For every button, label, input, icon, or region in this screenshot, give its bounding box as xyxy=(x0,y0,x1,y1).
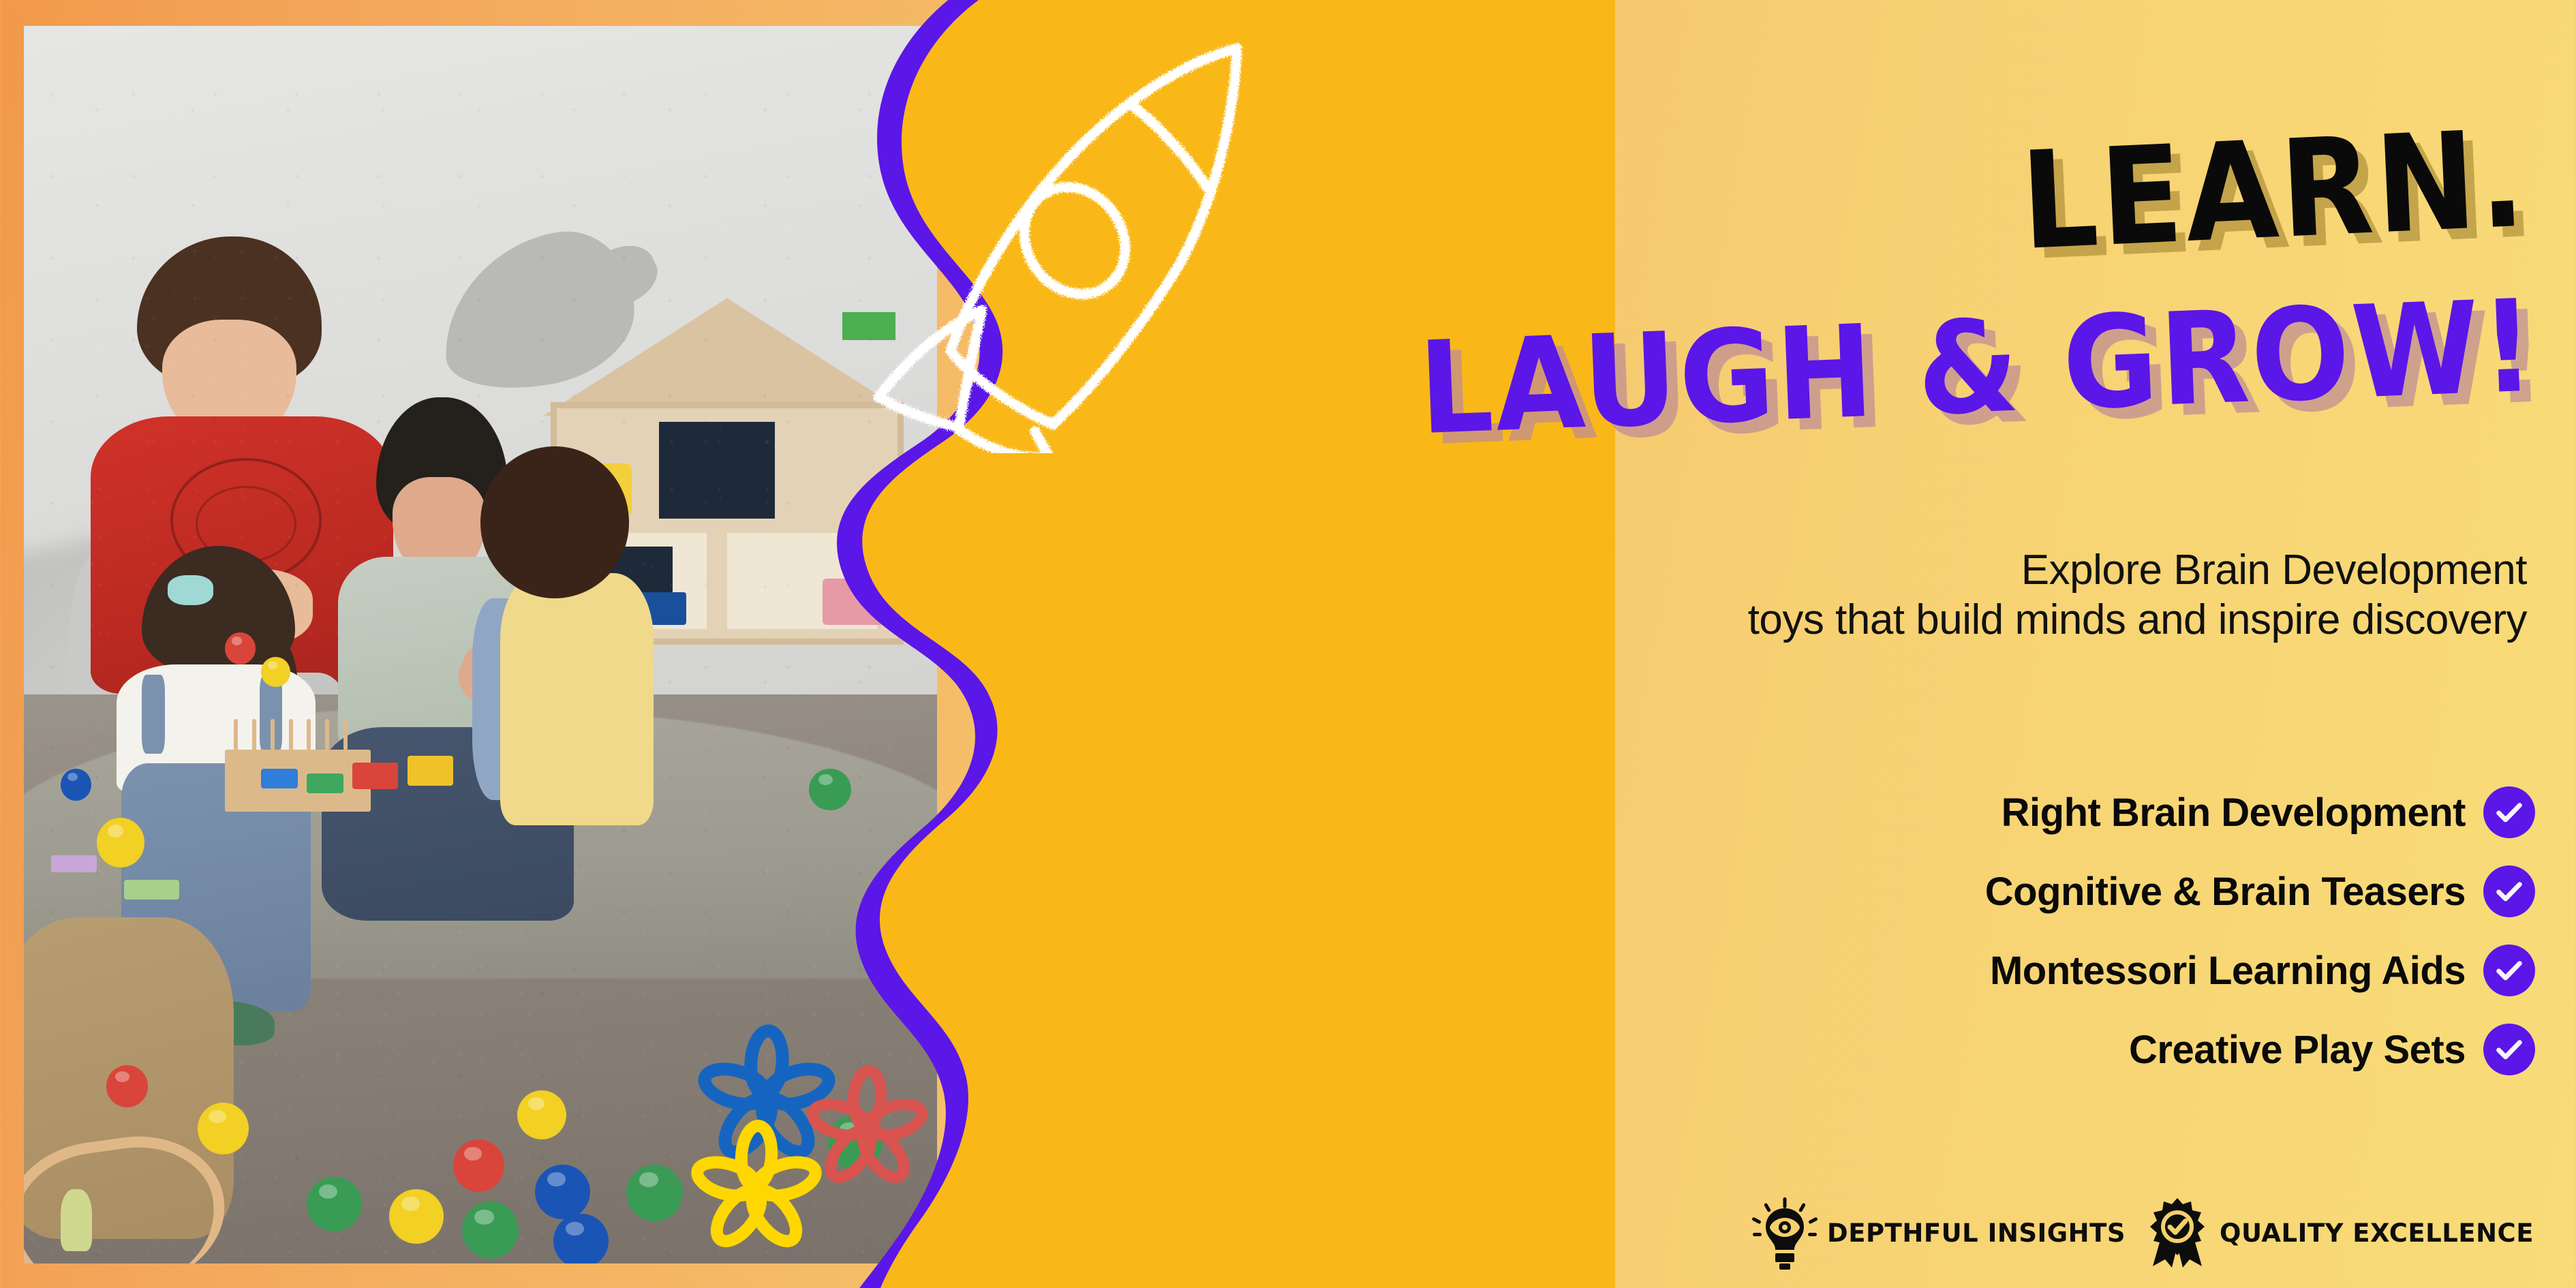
ball-yellow xyxy=(517,1090,566,1140)
girl-strap-left xyxy=(142,675,165,754)
ball-blue xyxy=(61,769,92,801)
feature-list: Right Brain Development Cognitive & Brai… xyxy=(1717,782,2535,1099)
subtitle-line-1: Explore Brain Development xyxy=(1748,545,2527,595)
feature-item-cognitive-brain-teasers[interactable]: Cognitive & Brain Teasers xyxy=(1717,861,2535,921)
award-ribbon-icon xyxy=(2145,1195,2210,1270)
headline-line-1: LEARN. xyxy=(2019,112,2530,270)
ball-green xyxy=(462,1201,519,1259)
peg xyxy=(252,719,256,750)
ball-yellow xyxy=(261,657,290,687)
ball-red xyxy=(225,632,256,664)
check-icon xyxy=(2483,786,2535,838)
ball-yellow xyxy=(198,1103,249,1154)
wooden-block-red xyxy=(352,763,398,790)
wooden-block-purple xyxy=(51,855,97,872)
rocket-window xyxy=(1004,168,1146,313)
feature-item-montessori-learning-aids[interactable]: Montessori Learning Aids xyxy=(1717,940,2535,1000)
girl-hair-clip xyxy=(168,575,214,605)
feature-item-creative-play-sets[interactable]: Creative Play Sets xyxy=(1717,1019,2535,1079)
feature-item-right-brain-development[interactable]: Right Brain Development xyxy=(1717,782,2535,842)
wooden-block-green xyxy=(307,773,343,793)
trust-badge-quality-excellence: QUALITY EXCELLENCE xyxy=(2145,1195,2534,1270)
rocket-fin-left xyxy=(878,310,982,427)
wooden-block-yellow xyxy=(408,756,453,786)
peg xyxy=(234,719,238,750)
lightbulb-eye-icon xyxy=(1752,1195,1818,1270)
trust-badge-label: QUALITY EXCELLENCE xyxy=(2220,1218,2534,1248)
ball-red xyxy=(106,1065,149,1107)
check-icon xyxy=(2483,945,2535,996)
wooden-peg-toy xyxy=(61,1189,93,1251)
headline-line-2: LAUGH & GROW! xyxy=(1417,283,2539,453)
flower-yellow-doodle xyxy=(688,1118,825,1254)
peg xyxy=(289,719,293,750)
ball-yellow xyxy=(97,818,144,868)
trust-badge-depthful-insights: DEPTHFUL INSIGHTS xyxy=(1752,1195,2126,1270)
check-icon xyxy=(2483,865,2535,917)
rocket-chalk-doodle xyxy=(855,24,1271,453)
wooden-block-blue xyxy=(261,769,298,788)
rocket-nose-line xyxy=(1131,104,1207,187)
trust-badge-label: DEPTHFUL INSIGHTS xyxy=(1827,1218,2126,1248)
feature-label: Right Brain Development xyxy=(2002,790,2466,835)
peg xyxy=(307,719,311,750)
trust-badge-row: DEPTHFUL INSIGHTS QUALITY EXCELLENCE xyxy=(1752,1195,2534,1270)
wooden-block-lightgreen xyxy=(124,880,179,900)
feature-label: Creative Play Sets xyxy=(2129,1027,2466,1073)
girl-hair xyxy=(142,546,295,675)
rocket-exhaust xyxy=(1035,431,1072,453)
wooden-peg-board xyxy=(225,750,371,812)
peg xyxy=(325,719,329,750)
feature-label: Montessori Learning Aids xyxy=(1990,948,2466,994)
peg xyxy=(343,719,348,750)
ball-red xyxy=(453,1139,504,1191)
feature-label: Cognitive & Brain Teasers xyxy=(1985,869,2466,915)
check-icon xyxy=(2483,1024,2535,1075)
ball-yellow xyxy=(389,1189,444,1244)
ball-green xyxy=(307,1177,361,1231)
subtitle: Explore Brain Development toys that buil… xyxy=(1748,545,2527,645)
rocket-body xyxy=(951,48,1237,425)
peg xyxy=(271,719,275,750)
subtitle-line-2: toys that build minds and inspire discov… xyxy=(1748,595,2527,645)
